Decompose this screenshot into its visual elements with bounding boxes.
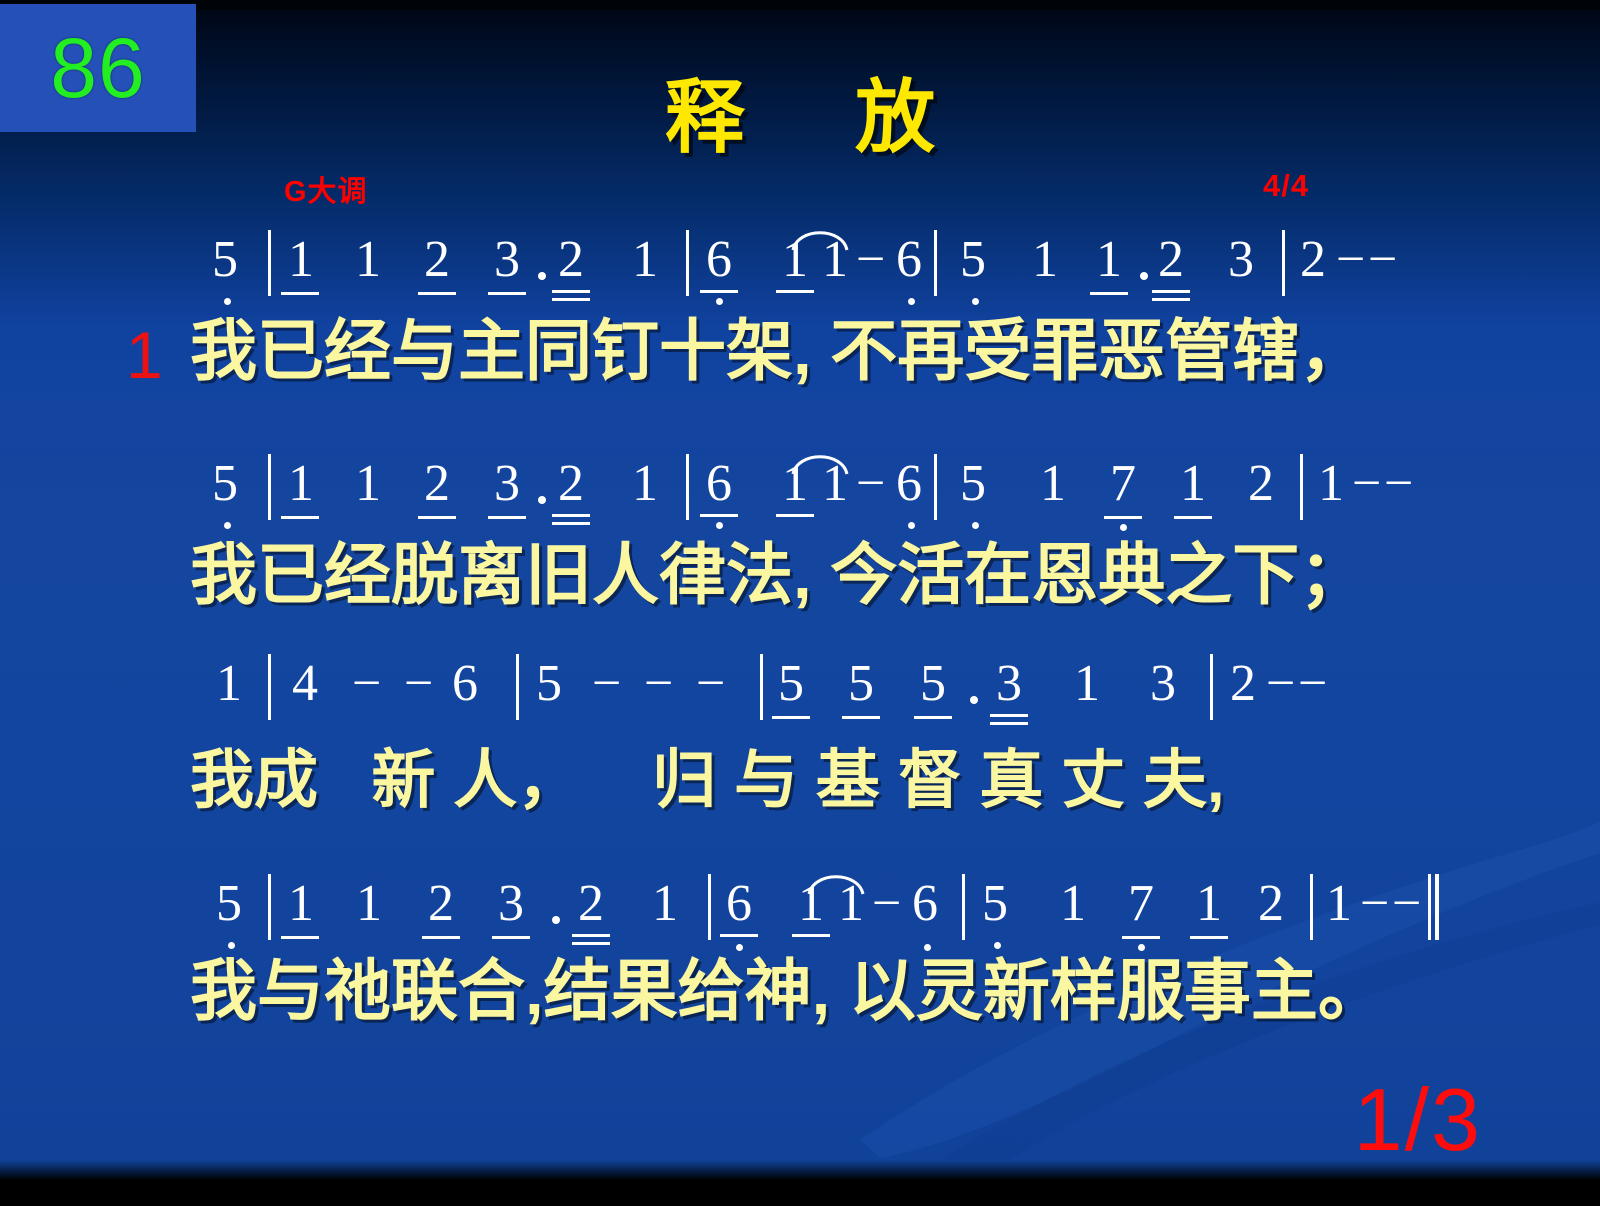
beam-underline bbox=[281, 936, 319, 939]
note: 2 bbox=[1248, 458, 1274, 510]
beam-underline bbox=[990, 714, 1028, 717]
note: 2 bbox=[428, 878, 454, 930]
augmentation-dot bbox=[538, 496, 546, 504]
sustain-dash: − bbox=[1360, 878, 1389, 930]
beam-underline bbox=[1104, 516, 1142, 519]
note: 5 bbox=[960, 458, 986, 510]
beam-underline bbox=[552, 514, 590, 517]
note: 1 bbox=[632, 458, 658, 510]
barline bbox=[1210, 654, 1213, 720]
sustain-dash: − bbox=[1336, 234, 1365, 286]
sustain-dash: − bbox=[644, 658, 673, 710]
octave-dot-low bbox=[228, 942, 235, 949]
note: 3 bbox=[1150, 658, 1176, 710]
barline bbox=[962, 874, 965, 940]
note: 1 bbox=[1180, 458, 1206, 510]
time-signature: 4/4 bbox=[1263, 168, 1309, 204]
note: 3 bbox=[494, 458, 520, 510]
page-indicator: 1/3 bbox=[1354, 1076, 1482, 1164]
verse-number: 1 bbox=[126, 322, 163, 388]
sustain-dash: − bbox=[696, 658, 725, 710]
beam-underline bbox=[842, 716, 880, 719]
beam-underline bbox=[488, 516, 526, 519]
augmentation-dot bbox=[1140, 272, 1148, 280]
note: 1 bbox=[216, 658, 242, 710]
note: 2 bbox=[578, 878, 604, 930]
beam-underline bbox=[914, 716, 952, 719]
augmentation-dot bbox=[552, 916, 560, 924]
note: 5 bbox=[212, 458, 238, 510]
augmentation-dot bbox=[970, 696, 978, 704]
beam-underline bbox=[1190, 936, 1228, 939]
barline bbox=[760, 654, 763, 720]
beam-underline bbox=[1122, 936, 1160, 939]
note: 6 bbox=[726, 878, 752, 930]
sustain-dash: − bbox=[1392, 878, 1421, 930]
note: 3 bbox=[996, 658, 1022, 710]
note: 1 bbox=[632, 234, 658, 286]
note: 5 bbox=[920, 658, 946, 710]
sustain-dash: − bbox=[592, 658, 621, 710]
stave-1: 5 1 1 2 3 2 1 6 1 1 − 6 5 bbox=[0, 228, 1600, 306]
beam-underline bbox=[1152, 290, 1190, 293]
beam-underline bbox=[418, 516, 456, 519]
note: 1 bbox=[782, 458, 808, 510]
octave-dot-low bbox=[224, 298, 231, 305]
beam-underline bbox=[552, 522, 590, 525]
note: 7 bbox=[1128, 878, 1154, 930]
octave-dot-low bbox=[224, 522, 231, 529]
note: 1 bbox=[798, 878, 824, 930]
stave-3: 1 4 − − 6 5 − − − 5 5 5 3 1 3 2 − − bbox=[0, 652, 1600, 730]
barline bbox=[934, 230, 937, 296]
note: 3 bbox=[498, 878, 524, 930]
note: 6 bbox=[896, 458, 922, 510]
note: 1 bbox=[822, 458, 848, 510]
sustain-dash: − bbox=[1368, 234, 1397, 286]
lyric-line-3: 我成 新 人， 归 与 基 督 真 丈 夫, bbox=[190, 748, 1600, 812]
barline bbox=[1300, 454, 1303, 520]
note: 2 bbox=[424, 234, 450, 286]
sustain-dash: − bbox=[1352, 458, 1381, 510]
octave-dot-low bbox=[716, 298, 723, 305]
beam-underline bbox=[990, 722, 1028, 725]
lyric-line-1: 我已经与主同钉十架, 不再受罪恶管辖， bbox=[190, 318, 1600, 385]
stave-2: 5 1 1 2 3 2 1 6 1 1 − 6 5 1 bbox=[0, 452, 1600, 530]
note: 1 bbox=[1318, 458, 1344, 510]
note: 3 bbox=[1228, 234, 1254, 286]
octave-dot-low bbox=[736, 944, 743, 951]
note: 6 bbox=[912, 878, 938, 930]
note: 3 bbox=[494, 234, 520, 286]
note: 1 bbox=[355, 234, 381, 286]
note: 1 bbox=[652, 878, 678, 930]
beam-underline bbox=[776, 290, 814, 293]
beam-underline bbox=[552, 298, 590, 301]
final-double-barline bbox=[1428, 874, 1440, 940]
note: 1 bbox=[822, 234, 848, 286]
beam-underline bbox=[281, 292, 319, 295]
note: 1 bbox=[838, 878, 864, 930]
barline bbox=[516, 654, 519, 720]
barline bbox=[934, 454, 937, 520]
note: 1 bbox=[288, 458, 314, 510]
lyric-line-4: 我与祂联合,结果给神, 以灵新样服事主。 bbox=[190, 958, 1600, 1025]
note: 1 bbox=[1032, 234, 1058, 286]
note: 1 bbox=[1040, 458, 1066, 510]
octave-dot-low bbox=[716, 522, 723, 529]
octave-dot-low bbox=[994, 942, 1001, 949]
octave-dot-low bbox=[924, 944, 931, 951]
note: 1 bbox=[1326, 878, 1352, 930]
note: 5 bbox=[536, 658, 562, 710]
note: 5 bbox=[982, 878, 1008, 930]
barline bbox=[268, 654, 271, 720]
note: 6 bbox=[452, 658, 478, 710]
barline bbox=[686, 454, 689, 520]
barline bbox=[268, 230, 271, 296]
barline bbox=[686, 230, 689, 296]
note: 2 bbox=[1158, 234, 1184, 286]
note: 7 bbox=[1110, 458, 1136, 510]
lyric-line-2: 我已经脱离旧人律法, 今活在恩典之下； bbox=[190, 542, 1600, 609]
beam-underline bbox=[792, 934, 830, 937]
beam-underline bbox=[720, 934, 758, 937]
sustain-dash: − bbox=[856, 458, 885, 510]
octave-dot-low bbox=[972, 298, 979, 305]
note: 5 bbox=[212, 234, 238, 286]
note: 1 bbox=[782, 234, 808, 286]
barline bbox=[708, 874, 711, 940]
note: 2 bbox=[558, 234, 584, 286]
note: 6 bbox=[896, 234, 922, 286]
beam-underline bbox=[1152, 298, 1190, 301]
note: 2 bbox=[558, 458, 584, 510]
octave-dot-low bbox=[908, 522, 915, 529]
beam-underline bbox=[488, 292, 526, 295]
beam-underline bbox=[492, 936, 530, 939]
note: 5 bbox=[778, 658, 804, 710]
barline bbox=[1282, 230, 1285, 296]
stave-4: 5 1 1 2 3 2 1 6 1 1 − 6 5 1 bbox=[0, 872, 1600, 950]
bottom-band bbox=[0, 1184, 1600, 1206]
beam-underline bbox=[418, 292, 456, 295]
barline bbox=[268, 874, 271, 940]
note: 2 bbox=[424, 458, 450, 510]
note: 2 bbox=[1230, 658, 1256, 710]
note: 6 bbox=[706, 458, 732, 510]
note: 5 bbox=[848, 658, 874, 710]
barline bbox=[268, 454, 271, 520]
note: 5 bbox=[960, 234, 986, 286]
note: 1 bbox=[356, 878, 382, 930]
note: 1 bbox=[1096, 234, 1122, 286]
sustain-dash: − bbox=[1384, 458, 1413, 510]
beam-underline bbox=[281, 516, 319, 519]
octave-dot-low bbox=[908, 298, 915, 305]
note: 1 bbox=[1060, 878, 1086, 930]
barline bbox=[1310, 874, 1313, 940]
note: 6 bbox=[706, 234, 732, 286]
note: 1 bbox=[1074, 658, 1100, 710]
sustain-dash: − bbox=[1298, 658, 1327, 710]
sustain-dash: − bbox=[352, 658, 381, 710]
beam-underline bbox=[772, 716, 810, 719]
octave-dot-low bbox=[1138, 944, 1145, 951]
beam-underline bbox=[700, 290, 738, 293]
beam-underline bbox=[1174, 516, 1212, 519]
note: 5 bbox=[216, 878, 242, 930]
key-signature: G大调 bbox=[284, 168, 368, 210]
beam-underline bbox=[776, 514, 814, 517]
sustain-dash: − bbox=[404, 658, 433, 710]
note: 1 bbox=[288, 878, 314, 930]
beam-underline bbox=[572, 942, 610, 945]
note: 1 bbox=[288, 234, 314, 286]
augmentation-dot bbox=[538, 272, 546, 280]
sustain-dash: − bbox=[856, 234, 885, 286]
note: 4 bbox=[292, 658, 318, 710]
hymn-slide: 86 释 放 G大调 4/4 1 5 1 1 2 3 2 1 6 bbox=[0, 0, 1600, 1206]
beam-underline bbox=[422, 936, 460, 939]
octave-dot-low bbox=[1120, 524, 1127, 531]
beam-underline bbox=[1090, 292, 1128, 295]
page-title: 释 放 bbox=[0, 78, 1600, 158]
note: 1 bbox=[355, 458, 381, 510]
beam-underline bbox=[552, 290, 590, 293]
note: 1 bbox=[1196, 878, 1222, 930]
note: 2 bbox=[1300, 234, 1326, 286]
note: 2 bbox=[1258, 878, 1284, 930]
beam-underline bbox=[572, 934, 610, 937]
beam-underline bbox=[700, 514, 738, 517]
top-band bbox=[0, 0, 1600, 10]
octave-dot-low bbox=[972, 522, 979, 529]
sustain-dash: − bbox=[872, 878, 901, 930]
sustain-dash: − bbox=[1266, 658, 1295, 710]
